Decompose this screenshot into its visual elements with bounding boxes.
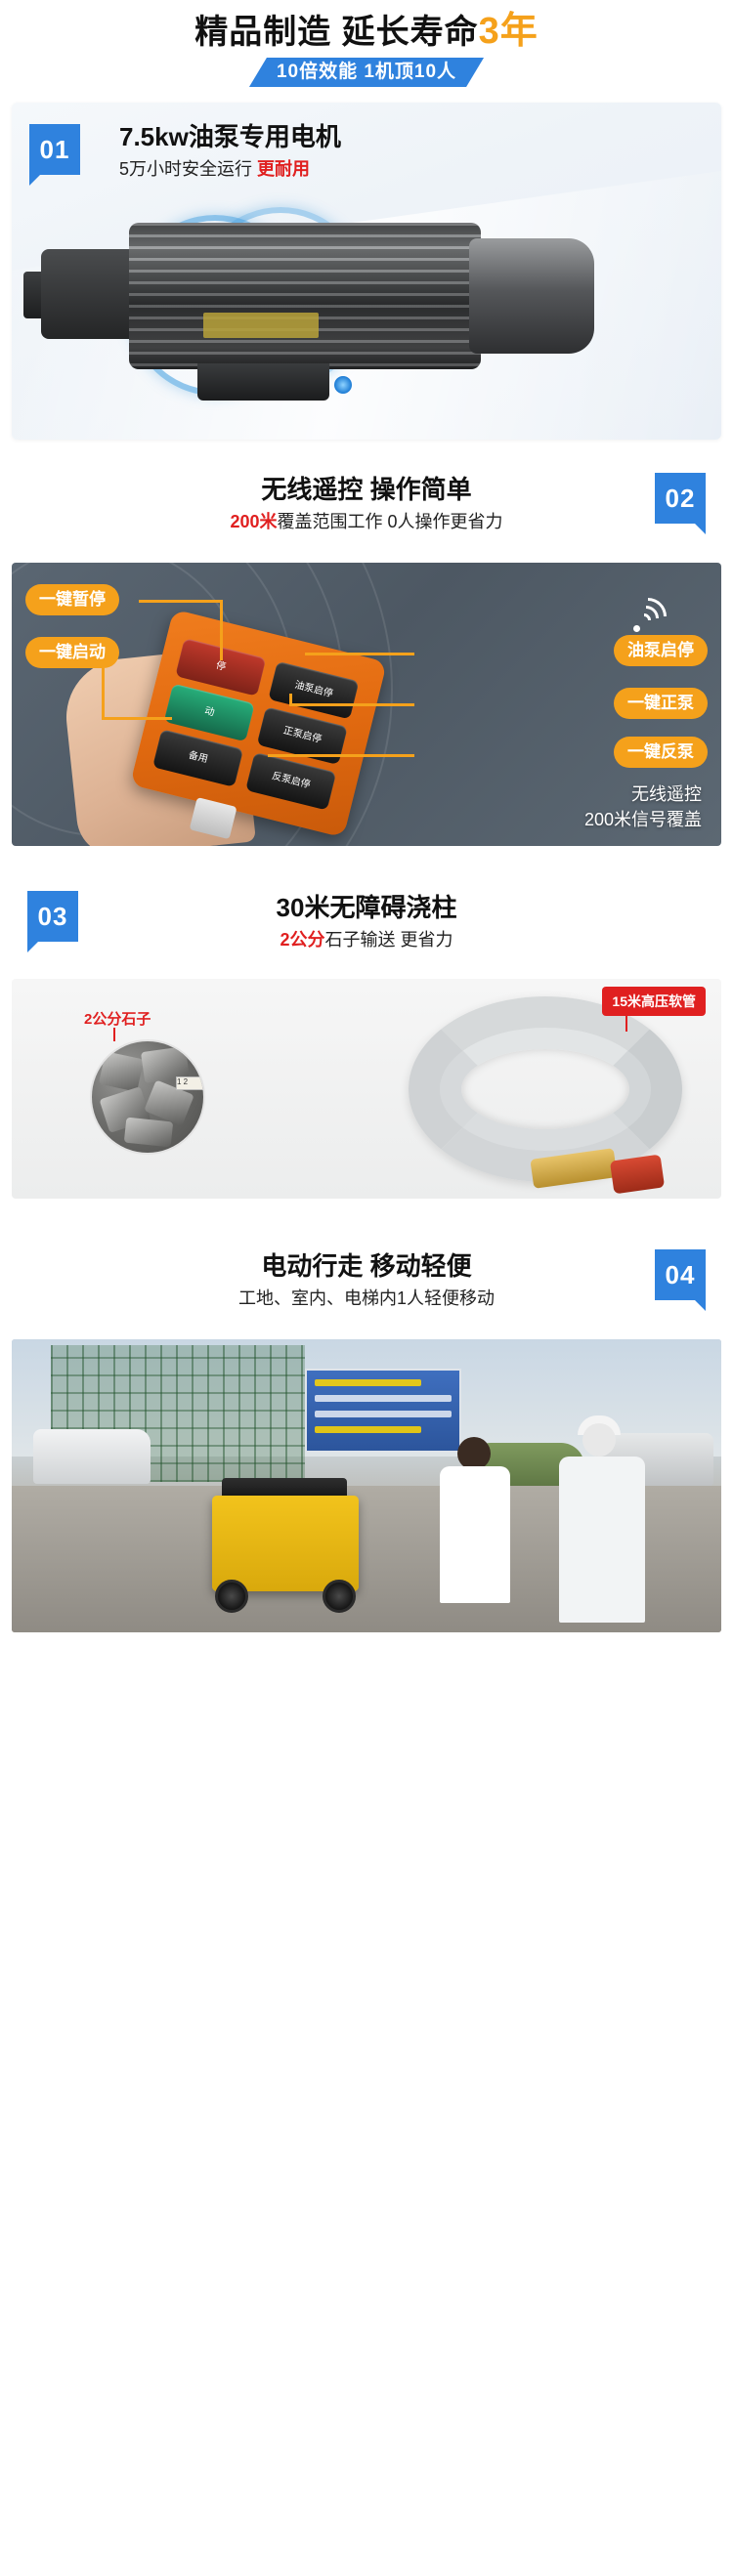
section-04-subtitle-plain: 工地、室内、电梯内 [238,1288,397,1308]
machine-wheel-rear [323,1580,356,1613]
page-title-accent: 3年 [479,11,539,52]
white-van [33,1429,151,1484]
worker-2-head [582,1423,616,1457]
highlight-glow-icon [334,376,352,394]
signboard-line [315,1411,452,1417]
hose-red-fitting [610,1155,665,1195]
section-03: 03 30米无障碍浇柱 2公分石子输送 更省力 1 2 2公分石子 15米高压软… [0,885,733,1199]
section-02-subtitle-highlight: 200米 [230,512,277,531]
tag-gravel-size: 2公分石子 [84,1008,151,1029]
motor-fan-cover [469,238,594,354]
section-02-number-badge: 02 [655,473,706,524]
section-02-photo-caption: 无线遥控 200米信号覆盖 [584,781,702,832]
header-banner-wrap: 10倍效能 1机顶10人 [0,58,733,87]
section-01-subtitle: 5万小时安全运行 更耐用 [119,155,341,183]
section-04-header: 04 电动行走 移动轻便 工地、室内、电梯内1人轻便移动 [0,1244,733,1333]
photo-caption-line-1: 无线遥控 [584,781,702,807]
section-03-photo: 1 2 2公分石子 15米高压软管 [12,979,721,1199]
worker-1-head [457,1437,491,1470]
callout-forward-pump: 一键正泵 [614,688,708,719]
motor-illustration [12,195,721,440]
section-04-number-badge: 04 [655,1249,706,1300]
section-04-subtitle: 工地、室内、电梯内1人轻便移动 [0,1285,733,1312]
signal-wave-icon [633,588,682,629]
motor-base-foot [197,363,329,401]
callout-lead-start-h [102,717,172,720]
tag-hose-lead [625,1014,627,1032]
section-01-title: 7.5kw油泵专用电机 [119,120,341,153]
section-04-title: 电动行走 移动轻便 [0,1249,733,1283]
page-title-text: 精品制造 延长寿命 [194,14,478,51]
section-02-header: 02 无线遥控 操作简单 200米覆盖范围工作 0人操作更省力 [0,467,733,557]
section-01-number-badge: 01 [29,124,80,175]
section-02-subtitle: 200米覆盖范围工作 0人操作更省力 [0,508,733,535]
section-03-number-badge: 03 [27,891,78,942]
motor-cooling-fins [129,223,481,369]
tag-hose-length: 15米高压软管 [602,987,706,1016]
worker-1-body [440,1466,510,1603]
section-04-photo [12,1339,721,1632]
section-03-subtitle-plain: 石子输送 更省力 [325,930,453,950]
gravel-piece [124,1118,173,1148]
signboard-line [315,1426,421,1433]
ruler-scale: 1 2 [176,1077,205,1090]
section-03-title: 30米无障碍浇柱 [0,891,733,924]
section-03-subtitle-highlight: 2公分 [280,930,324,950]
signboard-line [315,1395,452,1402]
section-04: 04 电动行走 移动轻便 工地、室内、电梯内1人轻便移动 [0,1244,733,1632]
section-01-subtitle-highlight: 更耐用 [257,159,310,179]
section-01-text: 7.5kw油泵专用电机 5万小时安全运行 更耐用 [119,120,341,183]
section-02-subtitle-plain: 覆盖范围工作 0人操作更省力 [278,512,503,531]
callout-start: 一键启动 [25,637,119,668]
section-02-photo: 停 油泵启停 动 正泵启停 备用 反泵启停 一键暂停 一键启动 [12,563,721,846]
concrete-pump-machine [212,1496,359,1591]
section-02: 02 无线遥控 操作简单 200米覆盖范围工作 0人操作更省力 停 油泵启停 动… [0,467,733,846]
page-title: 精品制造 延长寿命3年 [0,10,733,54]
callout-pump-toggle: 油泵启停 [614,635,708,666]
product-detail-page: 精品制造 延长寿命3年 10倍效能 1机顶10人 01 7.5kw油泵专用电机 … [0,0,733,1632]
worker-2-body [559,1457,645,1623]
callout-reverse-pump: 一键反泵 [614,737,708,768]
callout-lead-start-v [102,668,105,719]
header-banner: 10倍效能 1机顶10人 [249,58,484,87]
callout-lead-pause-h [139,600,223,603]
section-03-subtitle: 2公分石子输送 更省力 [0,926,733,953]
tag-gravel-lead [113,1028,115,1041]
section-01-subtitle-plain: 5万小时安全运行 [119,159,257,179]
motor-nameplate [203,313,319,338]
callout-lead-fwd-h [289,703,414,706]
section-03-header: 03 30米无障碍浇柱 2公分石子输送 更省力 [0,885,733,975]
callout-lead-pause-v [220,600,223,660]
photo-caption-line-2: 200米信号覆盖 [584,807,702,832]
section-04-subtitle-highlight: 1人轻便移动 [397,1288,495,1308]
section-02-title: 无线遥控 操作简单 [0,473,733,506]
callout-pause: 一键暂停 [25,584,119,615]
gravel-piece [99,1051,144,1092]
coiled-hose-inner [440,1028,651,1151]
site-signboard [305,1369,461,1453]
remote-button-grid: 停 油泵启停 动 正泵启停 备用 反泵启停 [152,638,363,811]
section-01: 01 7.5kw油泵专用电机 5万小时安全运行 更耐用 [12,103,721,440]
gravel-sample-photo: 1 2 [90,1039,205,1155]
signboard-line [315,1379,421,1386]
callout-lead-rev-h [268,754,414,757]
machine-wheel-front [215,1580,248,1613]
callout-lead-pump-h [305,653,414,655]
page-header: 精品制造 延长寿命3年 10倍效能 1机顶10人 [0,0,733,93]
motor-housing [129,223,481,369]
